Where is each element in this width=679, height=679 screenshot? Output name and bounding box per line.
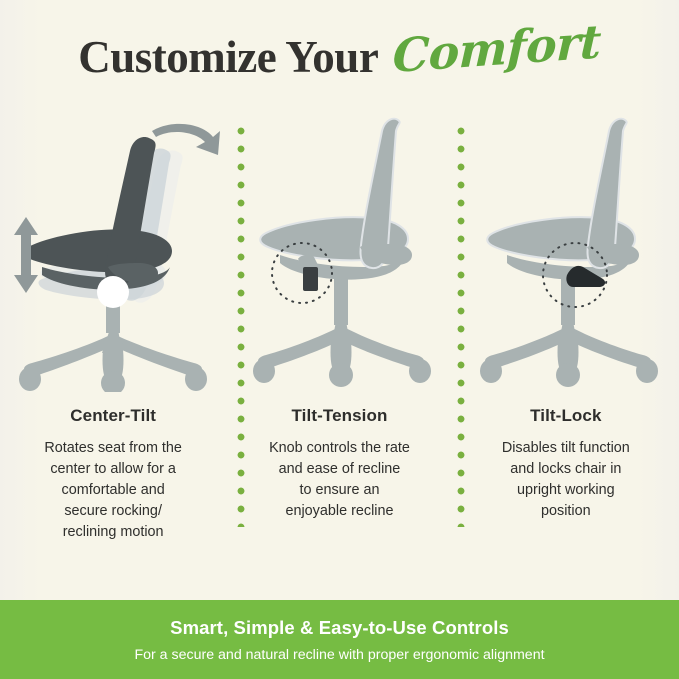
footer-title: Smart, Simple & Easy-to-Use Controls xyxy=(170,617,509,639)
feature-column-center-tilt: Center-Tilt Rotates seat from the center… xyxy=(0,112,226,600)
office-chair-tilt-lock-icon xyxy=(453,112,679,392)
title-main-text: Customize Your xyxy=(78,35,378,80)
feature-title-tilt-lock: Tilt-Lock xyxy=(530,406,601,426)
office-chair-center-tilt-icon xyxy=(0,112,226,392)
feature-column-tilt-lock: Tilt-Lock Disables tilt function and loc… xyxy=(453,112,679,600)
feature-column-tilt-tension: Tilt-Tension Knob controls the rate and … xyxy=(226,112,452,600)
page-title: Customize Your Comfort xyxy=(78,33,600,80)
feature-description-tilt-lock: Disables tilt function and locks chair i… xyxy=(476,438,656,522)
infographic-root: Customize Your Comfort xyxy=(0,0,679,679)
feature-description-center-tilt: Rotates seat from the center to allow fo… xyxy=(23,438,203,542)
footer-banner: Smart, Simple & Easy-to-Use Controls For… xyxy=(0,600,679,679)
header: Customize Your Comfort xyxy=(0,0,679,112)
office-chair-tilt-tension-icon xyxy=(226,112,452,392)
feature-description-tilt-tension: Knob controls the rate and ease of recli… xyxy=(249,438,429,522)
feature-columns: Center-Tilt Rotates seat from the center… xyxy=(0,112,679,600)
feature-title-center-tilt: Center-Tilt xyxy=(70,406,156,426)
title-script-text: Comfort xyxy=(392,18,602,79)
feature-title-tilt-tension: Tilt-Tension xyxy=(292,406,388,426)
footer-subtitle: For a secure and natural recline with pr… xyxy=(134,647,544,663)
